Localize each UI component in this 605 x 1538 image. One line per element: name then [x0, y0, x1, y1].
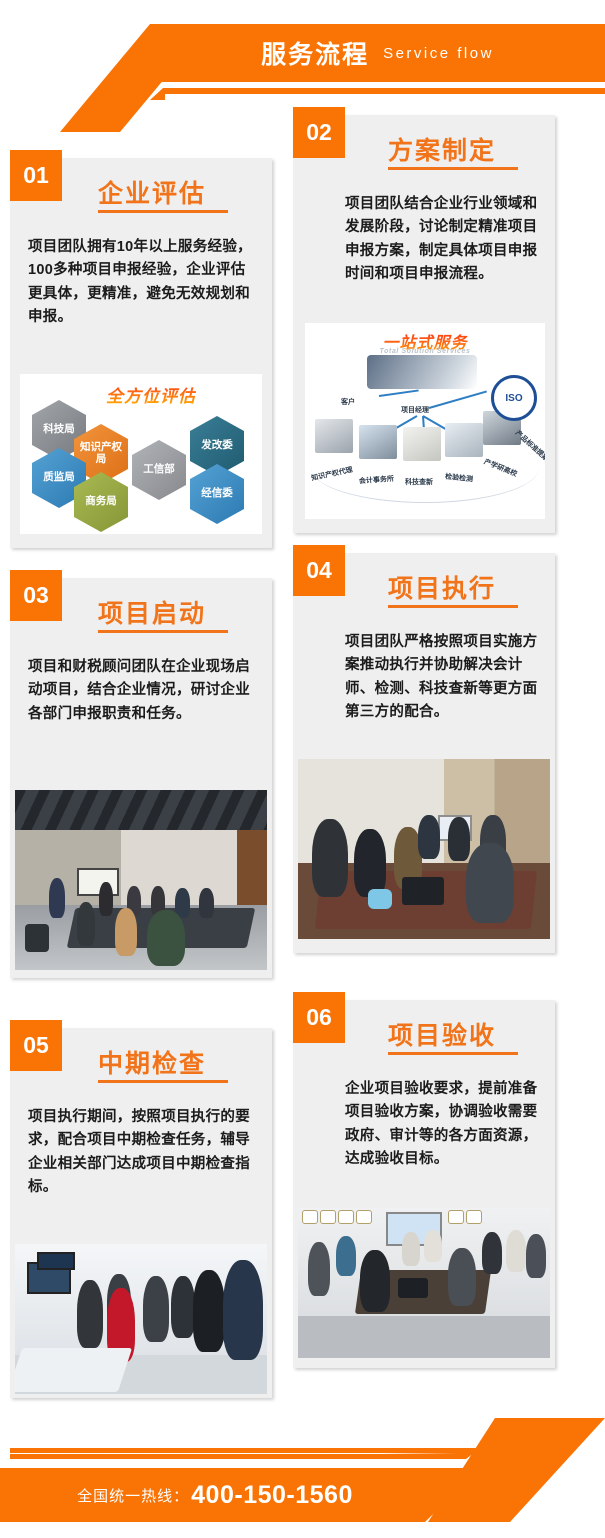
- hotline-label: 全国统一热线：: [77, 1485, 189, 1506]
- card-02-title: 方案制定: [388, 131, 496, 167]
- card-03-title-rule: [98, 630, 228, 633]
- one-stop-meeting-thumb: [367, 355, 477, 389]
- hex-node-4-label: 工信部: [141, 464, 177, 476]
- hex-node-2-label: 发改委: [199, 440, 235, 452]
- card-05[interactable]: 05 中期检查 项目执行期间，按照项目执行的要求，配合项目中期检查任务，辅导企业…: [10, 1028, 272, 1398]
- card-06-number-badge: 06: [293, 992, 345, 1043]
- one-stop-label-2: 科技查新: [405, 477, 433, 487]
- hotline-number[interactable]: 400-150-1560: [191, 1481, 353, 1510]
- card-02-number-badge: 02: [293, 107, 345, 158]
- one-stop-service-diagram: 一站式服务 Total Solution Services 客户 项目经理 IS…: [305, 323, 545, 519]
- card-04[interactable]: 04 项目执行 项目团队严格按照项目实施方案推动执行并协助解决会计师、检测、科技…: [293, 553, 555, 953]
- card-05-number-badge: 05: [10, 1020, 62, 1071]
- one-stop-arrow-4: [429, 391, 487, 409]
- one-stop-label-customer: 客户: [341, 397, 355, 407]
- acceptance-meeting-photo: [298, 1208, 550, 1358]
- hex-node-5-label: 经信委: [199, 488, 235, 500]
- iso-seal-icon: ISO: [491, 375, 537, 421]
- hex-node-3-label: 质监局: [41, 472, 77, 484]
- header-text-group: 服务流程 Service flow: [150, 24, 605, 82]
- card-01-title-rule: [98, 210, 228, 213]
- card-04-title: 项目执行: [388, 569, 496, 605]
- showroom-site-visit-photo: [15, 1244, 267, 1394]
- page-subtitle: Service flow: [383, 45, 494, 62]
- card-04-title-rule: [388, 605, 518, 608]
- card-03[interactable]: 03 项目启动 项目和财税顾问团队在企业现场启动项目，结合企业情况，研讨企业各部…: [10, 578, 272, 978]
- hex-node-5: 经信委: [190, 464, 244, 524]
- card-06-title: 项目验收: [388, 1016, 496, 1052]
- hex-diagram-title: 全方位评估: [106, 382, 196, 407]
- card-01[interactable]: 01 企业评估 项目团队拥有10年以上服务经验，100多种项目申报经验，企业评估…: [10, 158, 272, 548]
- one-stop-thumb-3: [445, 423, 483, 457]
- conference-room-kickoff-photo: [15, 790, 267, 970]
- card-01-title: 企业评估: [98, 174, 206, 210]
- card-06-body: 企业项目验收要求，提前准备项目验收方案，协调验收需要政府、审计等的各方面资源，达…: [345, 1078, 541, 1172]
- card-03-number-badge: 03: [10, 570, 62, 621]
- card-01-number-badge: 01: [10, 150, 62, 201]
- card-03-body: 项目和财税顾问团队在企业现场启动项目，结合企业情况，研讨企业各部门申报职责和任务…: [28, 656, 256, 726]
- card-06[interactable]: 06 项目验收 企业项目验收要求，提前准备项目验收方案，协调验收需要政府、审计等…: [293, 1000, 555, 1368]
- card-02[interactable]: 02 方案制定 项目团队结合企业行业领域和发展阶段，讨论制定精准项目申报方案，制…: [293, 115, 555, 533]
- header-underline: [150, 88, 605, 100]
- card-04-body: 项目团队严格按照项目实施方案推动执行并协助解决会计师、检测、科技查新等更方面第三…: [345, 631, 541, 725]
- card-02-body: 项目团队结合企业行业领域和发展阶段，讨论制定精准项目申报方案，制定具体项目申报时…: [345, 193, 541, 287]
- page-title: 服务流程: [261, 35, 369, 71]
- footer-text-group: 全国统一热线： 400-150-1560: [0, 1468, 430, 1522]
- card-03-title: 项目启动: [98, 594, 206, 630]
- team-working-laptops-photo: [298, 759, 550, 939]
- service-flow-infographic: 服务流程 Service flow 01 企业评估 项目团队拥有10年以上服务经…: [0, 0, 605, 1538]
- one-stop-subtitle: Total Solution Services: [305, 348, 545, 355]
- one-stop-label-5: 产品标准提案: [513, 428, 545, 464]
- card-05-title-rule: [98, 1080, 228, 1083]
- hex-node-6-label: 商务局: [83, 496, 119, 508]
- card-02-title-rule: [388, 167, 518, 170]
- one-stop-thumb-0: [315, 419, 353, 453]
- card-05-title: 中期检查: [98, 1044, 206, 1080]
- hex-node-4: 工信部: [132, 440, 186, 500]
- hex-node-0-label: 科技局: [41, 424, 77, 436]
- card-05-body: 项目执行期间，按照项目执行的要求，配合项目中期检查任务，辅导企业相关部门达成项目…: [28, 1106, 256, 1200]
- one-stop-label-manager: 项目经理: [401, 405, 429, 415]
- one-stop-arrow-0: [379, 389, 419, 397]
- card-04-number-badge: 04: [293, 545, 345, 596]
- page-footer: 全国统一热线： 400-150-1560: [0, 1418, 605, 1538]
- one-stop-thumb-1: [359, 425, 397, 459]
- one-stop-thumb-2: [403, 427, 441, 461]
- hexagon-assessment-diagram: 全方位评估 科技局 知识产权局 发改委 质监局 工信部 经信委 商务局: [20, 374, 262, 534]
- card-06-title-rule: [388, 1052, 518, 1055]
- card-01-body: 项目团队拥有10年以上服务经验，100多种项目申报经验，企业评估更具体，更精准，…: [28, 236, 256, 330]
